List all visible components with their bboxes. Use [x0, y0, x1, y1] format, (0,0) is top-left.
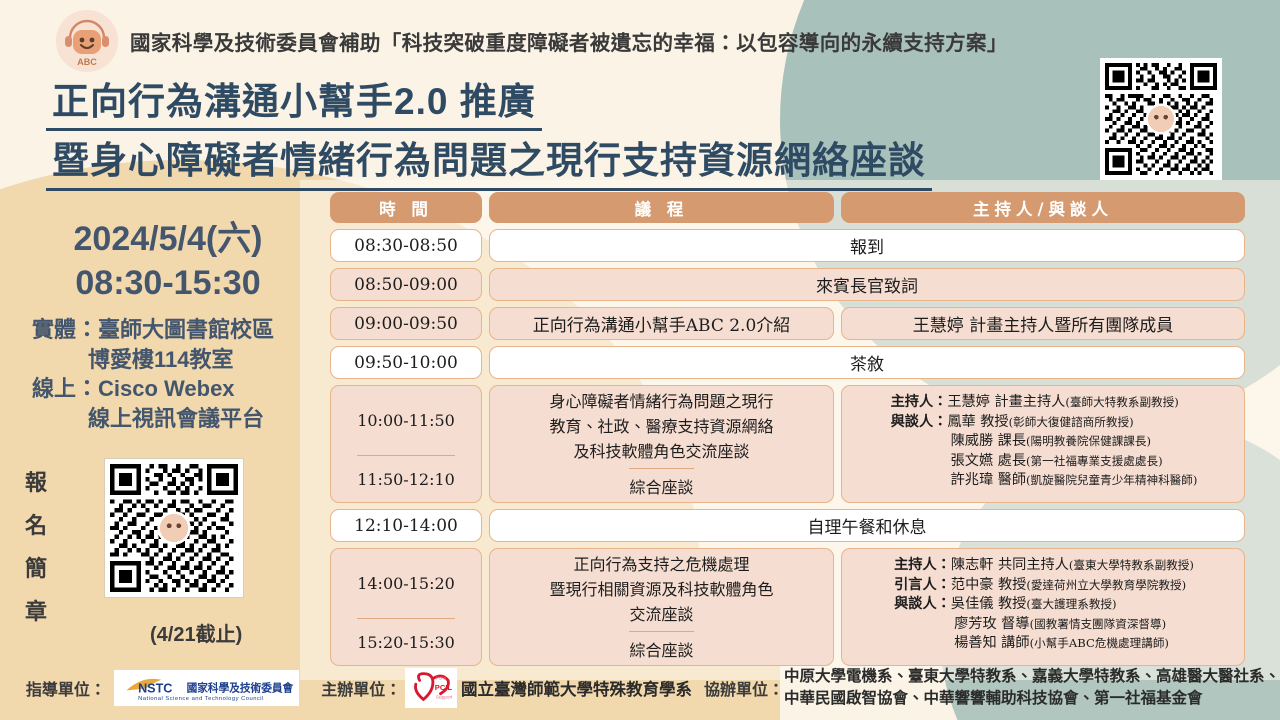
row-time: 08:30-08:50 — [330, 229, 482, 262]
row-content: 報到 — [489, 229, 1245, 262]
event-info: 2024/5/4(六) 08:30-15:30 實體：臺師大圖書館校區 博愛樓1… — [18, 218, 318, 434]
signup-char-3: 章 — [18, 591, 54, 634]
speaker-role: 與談人： — [891, 414, 948, 430]
speaker-name: 范中豪 教授 — [951, 577, 1026, 593]
speaker-line: 廖芳玫 督導(國教署情支團隊資深督導) — [894, 615, 1194, 635]
row-speakers: 王慧婷 計畫主持人暨所有團隊成員 — [841, 307, 1245, 340]
speaker-title: (愛達荷州立大學教育學院教授) — [1026, 578, 1186, 592]
table-row: 12:10-14:00 自理午餐和休息 — [330, 509, 1245, 542]
row-topic: 正向行為支持之危機處理 暨現行相關資源及科技軟體角色 交流座談 — [541, 549, 781, 631]
row-time: 09:00-09:50 — [330, 307, 482, 340]
title-line-1: 正向行為溝通小幫手2.0 推廣 — [46, 78, 542, 131]
page-title: 正向行為溝通小幫手2.0 推廣 暨身心障礙者情緒行為問題之現行支持資源網絡座談 — [46, 78, 932, 191]
speaker-role: 主持人： — [891, 394, 948, 410]
col-header-time: 時 間 — [330, 192, 482, 223]
venue-block: 實體：臺師大圖書館校區 博愛樓114教室 線上：Cisco Webex 線上視訊… — [18, 315, 318, 434]
speaker-line: 引言人：范中豪 教授(愛達荷州立大學教育學院教授) — [894, 576, 1194, 596]
speaker-name: 張文嬿 處長 — [951, 453, 1026, 469]
signup-deadline: (4/21截止) — [150, 618, 242, 647]
sponsor-line: 國家科學及技術委員會補助「科技突破重度障礙者被遺忘的幸福：以包容導向的永續支持方… — [130, 26, 1008, 56]
row-time: 10:00-11:50 — [357, 386, 455, 455]
speaker-line: 張文嬿 處長(第一社福專業支援處處長) — [891, 452, 1198, 472]
speaker-line: 與談人：鳳華 教授(彰師大復健諮商所教授) — [891, 413, 1198, 433]
signup-char-0: 報 — [18, 462, 54, 505]
speaker-line: 陳威勝 課長(陽明教養院保健課課長) — [891, 432, 1198, 452]
svg-text:國家科學及技術委員會: 國家科學及技術委員會 — [186, 681, 293, 694]
speaker-title: (凱旋醫院兒童青少年精神科醫師) — [1026, 473, 1197, 487]
speaker-name: 廖芳玫 督導 — [954, 616, 1029, 632]
speaker-line: 許兆瑋 醫師(凱旋醫院兒童青少年精神科醫師) — [891, 471, 1198, 491]
speaker-title: (陽明教養院保健課課長) — [1026, 434, 1151, 448]
table-row: 08:30-08:50 報到 — [330, 229, 1245, 262]
row-topic-secondary: 綜合座談 — [629, 468, 693, 502]
speaker-name: 鳳華 教授 — [947, 414, 1008, 430]
speaker-title: (彰師大復健諮商所教授) — [1009, 415, 1134, 429]
header: ABC 國家科學及技術委員會補助「科技突破重度障礙者被遺忘的幸福：以包容導向的永… — [56, 10, 1008, 72]
row-time: 09:50-10:00 — [330, 346, 482, 379]
speaker-title: (臺師大特教系副教授) — [1065, 395, 1178, 409]
row-time: 12:10-14:00 — [330, 509, 482, 542]
speaker-role: 主持人： — [894, 557, 951, 573]
venue-online: 線上：Cisco Webex — [32, 376, 235, 401]
venue-online-platform: 線上視訊會議平台 — [32, 404, 318, 434]
title-line-2: 暨身心障礙者情緒行為問題之現行支持資源網絡座談 — [46, 137, 932, 190]
qr-code-event[interactable] — [1100, 58, 1222, 180]
coorg-line-2: 中華民國啟智協會、中華響響輔助科技協會、第一社福基金會 — [784, 688, 1280, 710]
speaker-list: 主持人：王慧婷 計畫主持人(臺師大特教系副教授) 與談人：鳳華 教授(彰師大復健… — [879, 386, 1208, 498]
table-header-row: 時 間 議 程 主持人/與談人 — [330, 192, 1245, 223]
nstc-logo: NSTC 國家科學及技術委員會 National Science and Tec… — [114, 670, 299, 706]
col-header-speakers: 主持人/與談人 — [841, 192, 1245, 223]
row-speakers-group: 主持人：王慧婷 計畫主持人(臺師大特教系副教授) 與談人：鳳華 教授(彰師大復健… — [841, 385, 1245, 503]
footer: 指導單位： NSTC 國家科學及技術委員會 National Science a… — [0, 655, 1280, 720]
table-row: 09:00-09:50 正向行為溝通小幫手ABC 2.0介紹 王慧婷 計畫主持人… — [330, 307, 1245, 340]
speaker-name: 楊善知 講師 — [954, 635, 1029, 651]
row-content: 來賓長官致詞 — [489, 268, 1245, 301]
venue-room: 博愛樓114教室 — [32, 345, 318, 375]
speaker-name: 陳志軒 共同主持人 — [951, 557, 1069, 573]
svg-text:National Science and Technolog: National Science and Technology Council — [138, 696, 264, 702]
svg-text:ABC: ABC — [77, 57, 97, 67]
row-time: 08:50-09:00 — [330, 268, 482, 301]
speaker-name: 陳威勝 課長 — [951, 433, 1026, 449]
row-speakers-group: 主持人：陳志軒 共同主持人(臺東大學特教系副教授) 引言人：范中豪 教授(愛達荷… — [841, 548, 1245, 666]
speaker-role: 與談人： — [894, 596, 951, 612]
schedule-table: 時 間 議 程 主持人/與談人 08:30-08:50 報到 08:50-09:… — [330, 192, 1245, 672]
speaker-title: (第一社福專業支援處處長) — [1026, 454, 1163, 468]
row-time: 14:00-15:20 — [357, 549, 455, 618]
coorg-line-1: 中原大學電機系、臺東大學特教系、嘉義大學特教系、高雄醫大醫社系、 — [784, 666, 1280, 688]
row-content: 自理午餐和休息 — [489, 509, 1245, 542]
signup-label: 報 名 簡 章 — [18, 462, 54, 634]
table-row-block: 14:00-15:20 15:20-15:30 正向行為支持之危機處理 暨現行相… — [330, 548, 1245, 666]
poster-canvas: ABC 國家科學及技術委員會補助「科技突破重度障礙者被遺忘的幸福：以包容導向的永… — [0, 0, 1280, 720]
venue-physical: 實體：臺師大圖書館校區 — [32, 317, 274, 342]
abc-mascot-icon: ABC — [56, 10, 118, 72]
speaker-name: 吳佳儀 教授 — [951, 596, 1026, 612]
signup-char-2: 簡 — [18, 548, 54, 591]
row-topic: 身心障礙者情緒行為問題之現行 教育、社政、醫療支持資源網絡 及科技軟體角色交流座… — [541, 386, 781, 468]
speaker-title: (國教署情支團隊資深督導) — [1030, 617, 1167, 631]
event-date: 2024/5/4(六) — [18, 218, 318, 262]
row-topic-group: 身心障礙者情緒行為問題之現行 教育、社政、醫療支持資源網絡 及科技軟體角色交流座… — [489, 385, 834, 503]
speaker-line: 主持人：王慧婷 計畫主持人(臺師大特教系副教授) — [891, 393, 1198, 413]
row-time-secondary: 11:50-12:10 — [357, 455, 455, 502]
speaker-line: 主持人：陳志軒 共同主持人(臺東大學特教系副教授) — [894, 556, 1194, 576]
speaker-name: 王慧婷 計畫主持人 — [947, 394, 1065, 410]
signup-char-1: 名 — [18, 505, 54, 548]
speaker-title: (臺大護理系教授) — [1026, 597, 1116, 611]
qr-code-signup[interactable] — [104, 458, 244, 598]
speaker-line: 與談人：吳佳儀 教授(臺大護理系教授) — [894, 595, 1194, 615]
coorg-label: 協辦單位： — [704, 676, 784, 700]
svg-text:Support: Support — [436, 694, 453, 700]
table-row: 08:50-09:00 來賓長官致詞 — [330, 268, 1245, 301]
speaker-list: 主持人：陳志軒 共同主持人(臺東大學特教系副教授) 引言人：范中豪 教授(愛達荷… — [882, 549, 1204, 661]
coorg-list: 中原大學電機系、臺東大學特教系、嘉義大學特教系、高雄醫大醫社系、 中華民國啟智協… — [784, 666, 1280, 710]
col-header-agenda: 議 程 — [489, 192, 834, 223]
event-time: 08:30-15:30 — [18, 262, 318, 306]
speaker-role: 引言人： — [894, 577, 951, 593]
speaker-name: 許兆瑋 醫師 — [951, 472, 1026, 488]
row-topic: 正向行為溝通小幫手ABC 2.0介紹 — [489, 307, 834, 340]
row-topic-group: 正向行為支持之危機處理 暨現行相關資源及科技軟體角色 交流座談 綜合座談 — [489, 548, 834, 666]
speaker-line: 楊善知 講師(小幫手ABC危機處理講師) — [894, 634, 1194, 654]
svg-text:Polio: Polio — [436, 675, 447, 681]
row-time-group: 14:00-15:20 15:20-15:30 — [330, 548, 482, 666]
speaker-title: (臺東大學特教系副教授) — [1069, 558, 1194, 572]
speaker-title: (小幫手ABC危機處理講師) — [1030, 636, 1169, 650]
row-time-group: 10:00-11:50 11:50-12:10 — [330, 385, 482, 503]
host-org: 國立臺灣師範大學特殊教育學系 — [461, 676, 692, 700]
svg-text:NSTC: NSTC — [138, 681, 172, 695]
table-row-block: 10:00-11:50 11:50-12:10 身心障礙者情緒行為問題之現行 教… — [330, 385, 1245, 503]
advisor-label: 指導單位： — [26, 676, 106, 700]
pcil-logo: PCIL Polio Support — [405, 668, 457, 708]
table-row: 09:50-10:00 茶敘 — [330, 346, 1245, 379]
host-label: 主辦單位： — [321, 676, 401, 700]
svg-text:PCIL: PCIL — [435, 682, 453, 691]
row-content: 茶敘 — [489, 346, 1245, 379]
